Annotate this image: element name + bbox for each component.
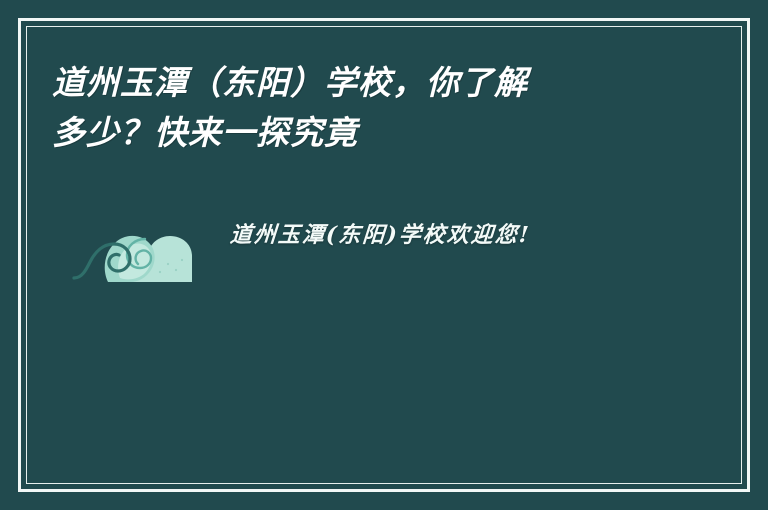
welcome-script-text: 道州玉潭(东阳)学校欢迎您! (229, 218, 532, 252)
auspicious-cloud-icon (72, 208, 198, 286)
headline-line-1: 道州玉潭（东阳）学校，你了解 (52, 58, 692, 108)
headline-line-2: 多少？快来一探究竟 (52, 108, 692, 158)
poster-canvas: 道州玉潭（东阳）学校，你了解 多少？快来一探究竟 (0, 0, 768, 510)
content-body-area (32, 292, 736, 478)
page-title: 道州玉潭（东阳）学校，你了解 多少？快来一探究竟 (52, 58, 692, 158)
